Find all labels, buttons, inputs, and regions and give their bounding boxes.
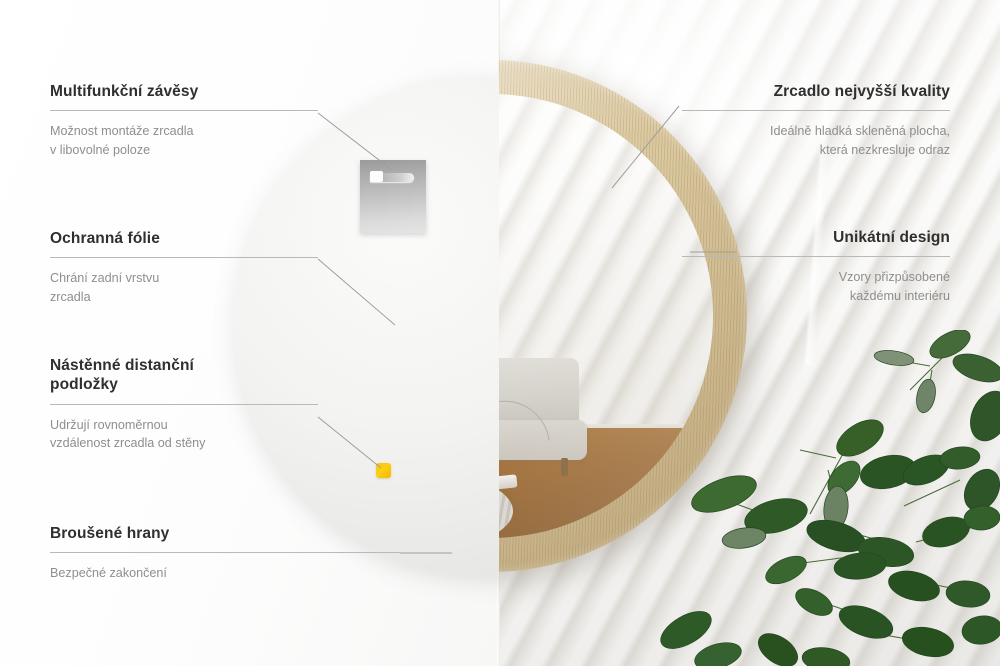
callout-body-line: Možnost montáže zrcadla <box>50 122 318 140</box>
callout-title: podložky <box>50 375 318 394</box>
callout-title: Nástěnné distanční <box>50 356 318 375</box>
infographic-canvas: Multifunkční závěsy Možnost montáže zrca… <box>0 0 1000 666</box>
callout-unikatni-design[interactable]: Unikátní design Vzory přizpůsobené každé… <box>682 228 950 305</box>
callout-rule <box>50 552 400 553</box>
callout-body-line: každému interiéru <box>682 287 950 305</box>
callout-body-line: v libovolné poloze <box>50 141 318 159</box>
callout-body-line: vzdálenost zrcadla od stěny <box>50 434 318 452</box>
callout-body-line: Chrání zadní vrstvu <box>50 269 318 287</box>
callout-multifunkcni-zavesy[interactable]: Multifunkční závěsy Možnost montáže zrca… <box>50 82 318 159</box>
callout-body-line: Vzory přizpůsobené <box>682 268 950 286</box>
callout-zrcadlo-nejvyssi-kvality[interactable]: Zrcadlo nejvyšší kvality Ideálně hladká … <box>682 82 950 159</box>
callout-nastenne-distancni-podlozky[interactable]: Nástěnné distanční podložky Udržují rovn… <box>50 356 318 452</box>
callout-body-line: zrcadla <box>50 288 318 306</box>
callout-rule <box>682 110 950 111</box>
callout-title: Broušené hrany <box>50 524 400 543</box>
callout-body-line: Ideálně hladká skleněná plocha, <box>682 122 950 140</box>
callout-brousene-hrany[interactable]: Broušené hrany Bezpečné zakončení <box>50 524 400 583</box>
hanger-slot-icon <box>370 173 414 182</box>
callout-body-line: Bezpečné zakončení <box>50 564 400 582</box>
callout-body-line: která nezkresluje odraz <box>682 141 950 159</box>
hanger-plate <box>360 160 426 233</box>
callout-title: Zrcadlo nejvyšší kvality <box>682 82 950 101</box>
callout-rule <box>50 110 318 111</box>
callout-rule <box>682 256 950 257</box>
callout-title: Ochranná fólie <box>50 229 318 248</box>
callout-title: Unikátní design <box>682 228 950 247</box>
callout-title: Multifunkční závěsy <box>50 82 318 101</box>
callout-rule <box>50 257 318 258</box>
yellow-spacer-pad <box>376 463 391 478</box>
callout-ochranna-folie[interactable]: Ochranná fólie Chrání zadní vrstvu zrcad… <box>50 229 318 306</box>
callout-rule <box>50 404 318 405</box>
callout-body-line: Udržují rovnoměrnou <box>50 416 318 434</box>
